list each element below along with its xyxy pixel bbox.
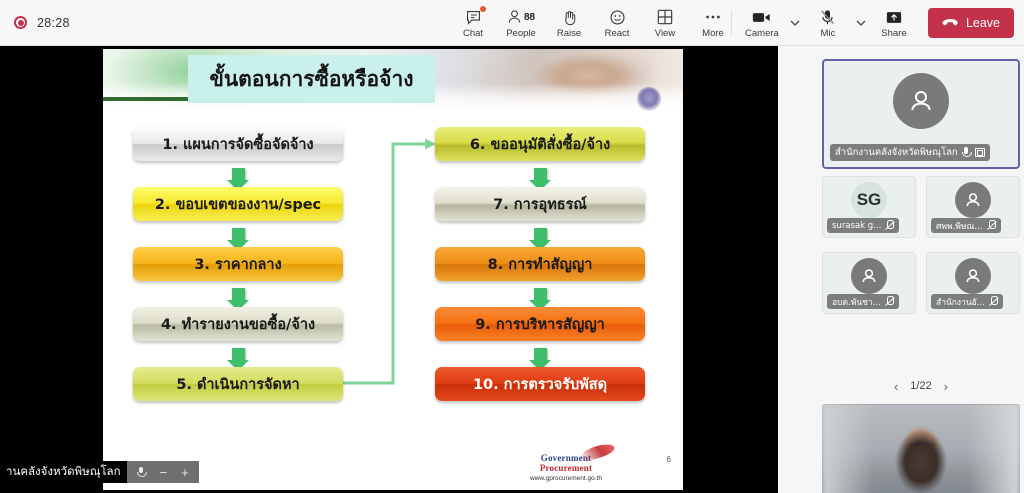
- chat-label: Chat: [463, 29, 483, 39]
- flow-arrow-4-5: [133, 341, 343, 367]
- raise-hand-button[interactable]: Raise: [545, 0, 593, 46]
- logo-text-procurement: Procurement: [540, 463, 592, 473]
- presenter-name: านคลังจังหวัดพิษณุโลก: [0, 461, 127, 483]
- mic-on-icon: [962, 147, 971, 158]
- raise-label: Raise: [557, 29, 581, 39]
- flow-step-6-label: 6. ขออนุมัติสั่งซื้อ/จ้าง: [470, 133, 610, 156]
- react-label: React: [605, 29, 630, 39]
- chat-button[interactable]: Chat: [449, 0, 497, 46]
- mic-off-icon: [989, 296, 998, 307]
- flow-step-7-label: 7. การอุทธรณ์: [493, 193, 587, 216]
- participants-rail: สำนักงานคลังจังหวัดพิษณุโลก SG surasak g…: [778, 46, 1024, 493]
- logo-url: www.gprocurement.go.th: [501, 475, 631, 482]
- active-speaker-tile[interactable]: สำนักงานคลังจังหวัดพิษณุโลก: [822, 59, 1020, 169]
- participant-name: surasak g...: [832, 221, 881, 231]
- garuda-emblem-icon: [637, 87, 661, 111]
- self-view-bg-left: [822, 404, 874, 493]
- people-button[interactable]: 88 People: [497, 0, 545, 46]
- flow-arrow-6-7: [435, 161, 645, 187]
- flow-step-5: 5. ดำเนินการจัดหา: [133, 367, 343, 401]
- flow-step-4: 4. ทำรายงานขอซื้อ/จ้าง: [133, 307, 343, 341]
- flow-arrow-8-9: [435, 281, 645, 307]
- flow-step-10-label: 10. การตรวจรับพัสดุ: [473, 373, 607, 396]
- shared-content-stage: ขั้นตอนการซื้อหรือจ้าง 1. แผนการจัดซื้อจ…: [0, 46, 778, 493]
- zoom-in-button[interactable]: +: [181, 465, 189, 480]
- people-icon: 88: [507, 7, 535, 27]
- participant-tile[interactable]: สำนักงานอั...: [926, 252, 1020, 314]
- flow-step-6: 6. ขออนุมัติสั่งซื้อ/จ้าง: [435, 127, 645, 161]
- more-label: More: [702, 29, 724, 39]
- grid-icon: [657, 7, 673, 27]
- flow-arrow-9-10: [435, 341, 645, 367]
- flow-column-left: 1. แผนการจัดซื้อจัดจ้าง 2. ขอบเขตของงาน/…: [133, 127, 343, 401]
- camera-chevron-down-icon[interactable]: [786, 0, 804, 46]
- teams-meeting-window: 28:28 Chat 88 People: [0, 0, 1024, 493]
- flow-step-10: 10. การตรวจรับพัสดุ: [435, 367, 645, 401]
- self-view-tile[interactable]: ศทอ.พิษณุโลก ลันดาชมัย: [822, 404, 1020, 493]
- presenter-overlay: านคลังจังหวัดพิษณุโลก − +: [0, 461, 199, 483]
- participant-name: สำนักงานคลังจังหวัดพิษณุโลก: [835, 145, 958, 160]
- participant-name: ศพพ.พิษณ...: [936, 219, 983, 233]
- mic-chevron-down-icon[interactable]: [852, 0, 870, 46]
- mic-off-icon: [820, 7, 835, 27]
- flow-arrow-2-3: [133, 221, 343, 247]
- chat-unread-badge: [480, 6, 486, 12]
- avatar: [893, 73, 949, 129]
- flow-arrow-7-8: [435, 221, 645, 247]
- participant-namebar: สำนักงานคลังจังหวัดพิษณุโลก: [830, 144, 990, 161]
- record-icon: [14, 16, 27, 29]
- glasses-detail: [908, 444, 936, 451]
- self-view-bg-right: [968, 404, 1020, 493]
- flow-step-1-label: 1. แผนการจัดซื้อจัดจ้าง: [162, 133, 313, 156]
- toolbar-actions: Chat 88 People Raise React: [449, 0, 737, 46]
- flow-step-3: 3. ราคากลาง: [133, 247, 343, 281]
- recording-indicator: 28:28: [0, 16, 70, 30]
- flow-arrow-3-4: [133, 281, 343, 307]
- camera-label: Camera: [745, 29, 779, 39]
- mic-label: Mic: [821, 29, 836, 39]
- slide-title-band: ขั้นตอนการซื้อหรือจ้าง: [188, 55, 435, 103]
- flow-step-8-label: 8. การทำสัญญา: [488, 253, 593, 276]
- pager-prev-button[interactable]: ‹: [894, 379, 898, 394]
- mic-off-icon: [885, 296, 894, 307]
- flow-step-9-label: 9. การบริหารสัญญา: [475, 313, 605, 336]
- participant-name: สำนักงานอั...: [936, 295, 985, 309]
- flow-column-right: 6. ขออนุมัติสั่งซื้อ/จ้าง 7. การอุทธรณ์ …: [435, 127, 645, 401]
- mic-button[interactable]: Mic: [804, 0, 852, 46]
- share-label: Share: [881, 29, 906, 39]
- smiley-icon: [609, 7, 626, 27]
- people-label: People: [506, 29, 536, 39]
- flow-step-2-label: 2. ขอบเขตของงาน/spec: [155, 193, 321, 216]
- pager-value: 1/22: [910, 380, 931, 392]
- share-button[interactable]: Share: [870, 0, 918, 46]
- participant-namebar: ศพพ.พิษณ...: [931, 218, 1001, 233]
- pin-icon[interactable]: [975, 148, 985, 157]
- mic-on-icon: [137, 467, 146, 478]
- gprocurement-logo: Government Procurement www.gprocurement.…: [501, 454, 631, 482]
- logo-line-2: Procurement: [501, 464, 631, 473]
- flow-step-3-label: 3. ราคากลาง: [194, 253, 281, 276]
- zoom-out-button[interactable]: −: [160, 465, 168, 480]
- recording-timer: 28:28: [37, 16, 70, 30]
- avatar-initials-text: SG: [857, 190, 882, 210]
- participant-tile[interactable]: ศพพ.พิษณ...: [926, 176, 1020, 238]
- flow-step-9: 9. การบริหารสัญญา: [435, 307, 645, 341]
- participant-namebar: สำนักงานอั...: [931, 294, 1003, 309]
- flow-step-4-label: 4. ทำรายงานขอซื้อ/จ้าง: [161, 313, 315, 336]
- camera-button[interactable]: Camera: [738, 0, 786, 46]
- leave-label: Leave: [966, 16, 1000, 30]
- pager-next-button[interactable]: ›: [944, 379, 948, 394]
- call-controls: Camera Mic: [725, 0, 1014, 46]
- people-count: 88: [524, 12, 535, 23]
- camera-icon: [752, 7, 771, 27]
- hangup-icon: [942, 18, 959, 28]
- slide-page-number: 6: [667, 455, 671, 464]
- avatar: [955, 258, 991, 294]
- flow-step-1: 1. แผนการจัดซื้อจัดจ้าง: [133, 127, 343, 161]
- hand-icon: [562, 7, 577, 27]
- participants-pager: ‹ 1/22 ›: [822, 374, 1020, 398]
- react-button[interactable]: React: [593, 0, 641, 46]
- page-title: ขั้นตอนการซื้อหรือจ้าง: [209, 63, 413, 96]
- participant-namebar: surasak g...: [827, 218, 899, 233]
- flow-step-7: 7. การอุทธรณ์: [435, 187, 645, 221]
- avatar: [851, 258, 887, 294]
- avatar: [955, 182, 991, 218]
- avatar-initials: SG: [851, 182, 887, 218]
- view-label: View: [655, 29, 675, 39]
- presenter-controls: − +: [127, 461, 199, 483]
- flow-step-5-label: 5. ดำเนินการจัดหา: [176, 373, 299, 396]
- flow-step-2: 2. ขอบเขตของงาน/spec: [133, 187, 343, 221]
- participant-name: อบต.พันชา...: [832, 295, 881, 309]
- participant-tile[interactable]: อบต.พันชา...: [822, 252, 916, 314]
- share-icon: [886, 7, 902, 27]
- flow-arrow-1-2: [133, 161, 343, 187]
- ellipsis-icon: [704, 7, 722, 27]
- view-button[interactable]: View: [641, 0, 689, 46]
- participant-tile[interactable]: SG surasak g...: [822, 176, 916, 238]
- leave-button[interactable]: Leave: [928, 8, 1014, 38]
- presentation-slide: ขั้นตอนการซื้อหรือจ้าง 1. แผนการจัดซื้อจ…: [103, 49, 683, 490]
- divider: [731, 10, 732, 36]
- meeting-toolbar: 28:28 Chat 88 People: [0, 0, 1024, 46]
- mic-off-icon: [885, 220, 894, 231]
- flow-step-8: 8. การทำสัญญา: [435, 247, 645, 281]
- mic-off-icon: [987, 220, 996, 231]
- chat-icon: [465, 7, 482, 27]
- participant-namebar: อบต.พันชา...: [827, 294, 899, 309]
